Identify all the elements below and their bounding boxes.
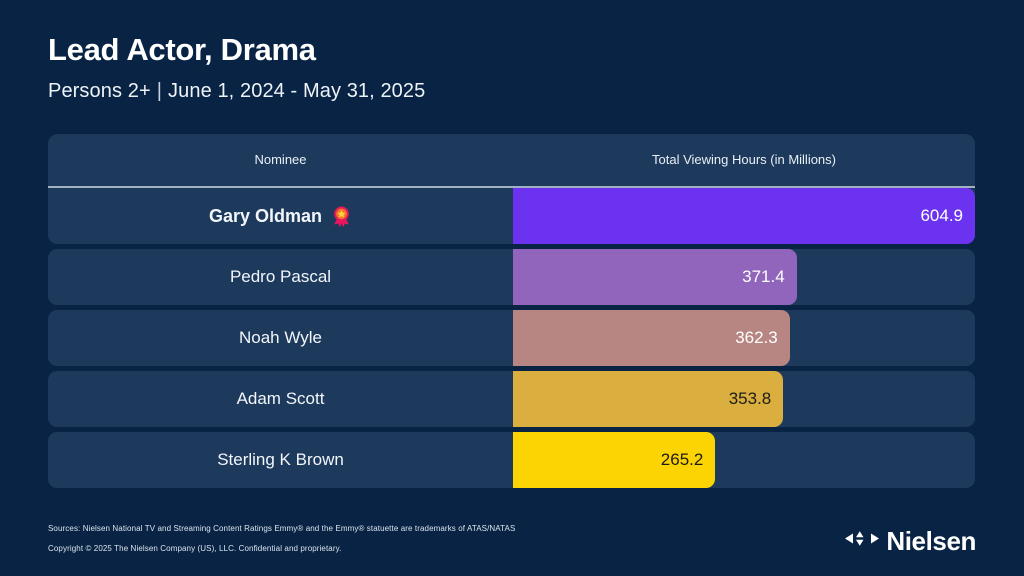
bar-value-label: 362.3 (735, 328, 790, 348)
table-row: Sterling K Brown265.2 (48, 432, 975, 488)
bar-track: 371.4 (513, 249, 975, 305)
nominee-cell: Sterling K Brown (48, 432, 513, 488)
bar-track: 353.8 (513, 371, 975, 427)
footer-sources: Sources: Nielsen National TV and Streami… (48, 524, 668, 534)
subtitle-date-range: June 1, 2024 - May 31, 2025 (168, 80, 425, 102)
table-header-row: Nominee Total Viewing Hours (in Millions… (48, 134, 975, 186)
bar-track: 362.3 (513, 310, 975, 366)
column-header-viewing-hours: Total Viewing Hours (in Millions) (513, 152, 975, 167)
bar-value-label: 353.8 (729, 389, 784, 409)
nominee-table: Nominee Total Viewing Hours (in Millions… (48, 134, 975, 186)
footer-copyright: Copyright © 2025 The Nielsen Company (US… (48, 544, 668, 554)
nominee-cell: Adam Scott (48, 371, 513, 427)
value-bar: 353.8 (513, 371, 783, 427)
nominee-cell: Gary Oldman (48, 188, 513, 244)
nielsen-arrows-icon (845, 530, 879, 552)
table-row: Adam Scott353.8 (48, 371, 975, 427)
nielsen-logo: Nielsen (845, 528, 976, 554)
footer: Sources: Nielsen National TV and Streami… (48, 524, 668, 554)
table-body: Gary Oldman 604.9Pedro Pascal371.4Noah W… (48, 188, 975, 493)
table-row: Noah Wyle362.3 (48, 310, 975, 366)
subtitle-separator: | (151, 80, 168, 103)
nominee-cell: Noah Wyle (48, 310, 513, 366)
subtitle-audience: Persons 2+ (48, 80, 151, 102)
bar-value-label: 604.9 (920, 206, 975, 226)
nominee-name: Pedro Pascal (230, 267, 331, 287)
nominee-name: Noah Wyle (239, 328, 322, 348)
value-bar: 362.3 (513, 310, 790, 366)
nielsen-wordmark: Nielsen (886, 528, 976, 554)
value-bar: 371.4 (513, 249, 797, 305)
bar-value-label: 265.2 (661, 450, 716, 470)
bar-track: 265.2 (513, 432, 975, 488)
nominee-name: Gary Oldman (209, 206, 322, 227)
table-row: Pedro Pascal371.4 (48, 249, 975, 305)
winner-badge (331, 206, 352, 227)
column-header-nominee: Nominee (48, 152, 513, 167)
value-bar: 265.2 (513, 432, 715, 488)
table-row: Gary Oldman 604.9 (48, 188, 975, 244)
nominee-cell: Pedro Pascal (48, 249, 513, 305)
bar-value-label: 371.4 (742, 267, 797, 287)
nominee-name: Adam Scott (237, 389, 325, 409)
page-subtitle: Persons 2+|June 1, 2024 - May 31, 2025 (48, 80, 425, 103)
page-title: Lead Actor, Drama (48, 32, 316, 68)
nominee-name: Sterling K Brown (217, 450, 344, 470)
bar-track: 604.9 (513, 188, 975, 244)
rosette-icon (331, 206, 352, 227)
value-bar: 604.9 (513, 188, 975, 244)
